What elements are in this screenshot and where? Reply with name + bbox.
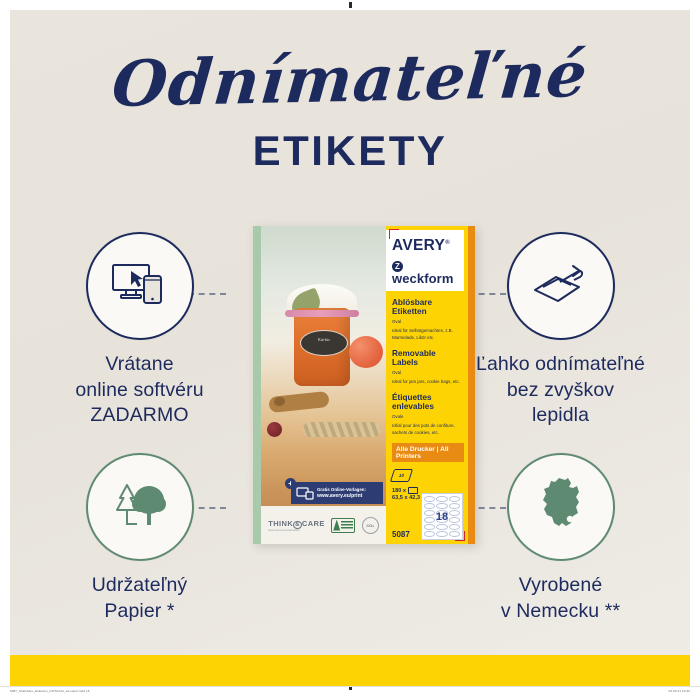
poster-page: Odnímateľné ETIKETY (0, 0, 700, 700)
think-care-url: www.avery.eu/sustainability (268, 529, 325, 532)
language-block-en: Removable Labels Oval Ideal for jam jars… (386, 349, 468, 386)
feature-label: Udržateľný Papier * (32, 573, 247, 624)
lang-shape-de: Oval (392, 319, 462, 326)
footer-filename: 5087_Ablösbare_Etiketten_CZ/SK/HU_komple… (10, 689, 90, 693)
brand-avery: AVERY® (392, 238, 450, 254)
lang-desc-de: Ideal für Selbstgemachtes, z.B. Marmelad… (392, 328, 462, 341)
jar-label-text: Kürbis (301, 337, 347, 342)
lang-desc-fr: Idéal pour des pots de confiture, sachet… (392, 423, 462, 436)
monitor-mobile-cursor-icon (110, 261, 170, 312)
feature-label: Vrátane online softvéru ZADARMO (32, 352, 247, 429)
jar-label: Kürbis (300, 330, 348, 356)
printers-compatibility-bar: Alle Drucker | All Printers (392, 443, 464, 462)
rope-icon (303, 422, 381, 437)
language-block-fr: Étiquettes enlevables Ovale Idéal pour d… (386, 393, 468, 437)
berry-icon (267, 422, 282, 437)
feature-icon-bubble (507, 453, 615, 561)
lang-desc-en: Ideal for jam jars, cookie bags, etc. (392, 379, 462, 386)
label-shape-icon (408, 487, 418, 494)
sheets-count-icon: 10 (390, 469, 413, 482)
feature-sustainable-paper: Udržateľný Papier * (32, 453, 247, 624)
bottom-yellow-band (10, 655, 690, 686)
co2-neutral-icon: CO₂ (362, 517, 379, 534)
feature-icon-bubble (507, 232, 615, 340)
footer-divider (0, 686, 700, 687)
product-pack: Kürbis + (253, 226, 475, 544)
feature-icon-bubble (86, 453, 194, 561)
pack-info-panel: AVERY® Zweckform Ablösbare Etiketten Ova… (386, 226, 468, 544)
product-code: 5087 (392, 530, 410, 539)
think-care-logo: THINK&CARE www.avery.eu/sustainability (268, 519, 325, 532)
germany-map-icon (535, 476, 587, 539)
crop-mark-top (349, 2, 352, 8)
label-sheet-preview: 18 (421, 493, 463, 540)
labels-per-sheet-count: 18 (424, 511, 460, 523)
pack-specs: 10 180 x 63,5 x 42,3 mm 5087 18 (386, 469, 468, 544)
feature-online-software: Vrátane online softvéru ZADARMO (32, 232, 247, 429)
label-grid: 18 (424, 496, 460, 537)
language-block-de: Ablösbare Etiketten Oval Ideal für Selbs… (386, 298, 468, 342)
feature-removable-no-residue: Ľahko odnímateľné bez zvyškov lepidla (453, 232, 668, 429)
pack-photo: Kürbis + (261, 226, 386, 544)
lang-heading-de: Ablösbare Etiketten (392, 298, 462, 317)
peeling-label-icon (530, 260, 592, 313)
trees-icon (111, 480, 169, 535)
poster-canvas: Odnímateľné ETIKETY (10, 10, 690, 680)
monitor-mobile-icon (296, 487, 314, 500)
headline-sub: ETIKETY (10, 127, 690, 175)
banner-text: Gratis Online-Vorlagen: www.avery.eu/pri… (317, 487, 366, 500)
headline-script: Odnímateľné (10, 41, 690, 118)
avery-zweckform-logo: AVERY® Zweckform (386, 230, 464, 291)
online-templates-banner: Gratis Online-Vorlagen: www.avery.eu/pri… (291, 482, 383, 504)
pack-spine-left (253, 226, 261, 544)
feature-made-in-germany: Vyrobené v Nemecku ** (453, 453, 668, 624)
page-title: Odnímateľné ETIKETY (10, 48, 690, 175)
jar-ribbon-icon (285, 310, 359, 317)
footer-timestamp: 04.05.21 10:30 (669, 689, 690, 693)
feature-label: Vyrobené v Nemecku ** (453, 573, 668, 624)
lang-heading-fr: Étiquettes enlevables (392, 393, 462, 412)
lang-shape-fr: Ovale (392, 414, 462, 421)
pack-photo-footer: THINK&CARE www.avery.eu/sustainability C… (261, 506, 386, 544)
tomato-icon (349, 336, 383, 368)
fsc-certification-icon (331, 518, 355, 533)
lang-shape-en: Oval (392, 370, 462, 377)
feature-icon-bubble (86, 232, 194, 340)
feature-label: Ľahko odnímateľné bez zvyškov lepidla (453, 352, 668, 429)
pack-spine-right (468, 226, 475, 544)
lang-heading-en: Removable Labels (392, 349, 462, 368)
brand-zweckform: Zweckform (392, 257, 459, 285)
